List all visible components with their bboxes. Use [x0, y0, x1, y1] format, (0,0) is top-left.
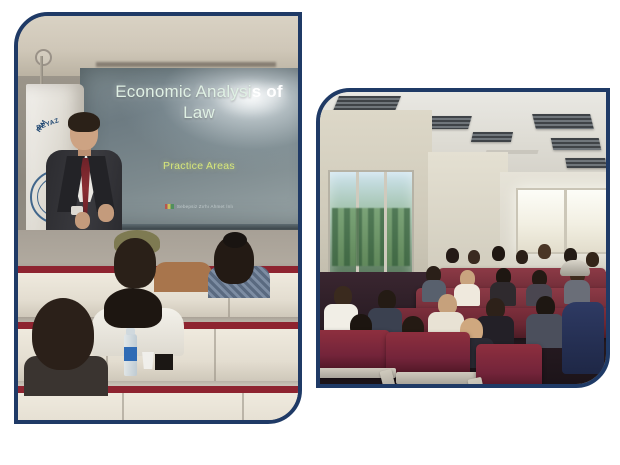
slide-title-line1-highlight: s of [252, 82, 283, 101]
water-bottle-label [124, 347, 137, 361]
slide-footer-logo-icon [165, 204, 174, 209]
speaker-right-hand [98, 204, 114, 222]
audience-member-torso [154, 262, 212, 292]
speaker-presenting-photo[interactable]: Economic Analysis of Law Practice Areas … [14, 12, 302, 424]
audience-member-head [104, 288, 162, 328]
ceiling-vent-icon [565, 158, 606, 168]
left-photo-content: Economic Analysis of Law Practice Areas … [18, 16, 298, 420]
audience-member-torso [526, 314, 564, 348]
audience-member-head [114, 238, 156, 288]
flag-pole-finial-icon [35, 49, 52, 66]
empty-seat [386, 332, 470, 376]
blue-chair [562, 302, 604, 374]
ceiling-vent-icon [551, 138, 602, 150]
ceiling-vent-icon [471, 132, 513, 142]
empty-seat [476, 344, 542, 384]
slide-title: Economic Analysis of Law [80, 82, 298, 123]
audience-member-head [492, 246, 505, 261]
audience-member-head [334, 286, 352, 306]
empty-seat [320, 330, 390, 372]
slide-footer-text: Sebepsiz Zırhı Ahmet İnlı [177, 204, 233, 209]
seal-text-right: BEYAZ [36, 117, 61, 132]
ceiling-vent-icon [333, 96, 401, 111]
audience-member-head [586, 252, 599, 267]
window-foliage [332, 208, 410, 266]
audience-member-torso [564, 280, 590, 304]
audience-member-torso [454, 284, 480, 306]
side-lamp [560, 260, 590, 276]
audience-member-hair-bun [223, 232, 247, 248]
water-bottle [124, 334, 137, 376]
photo-collage: Economic Analysis of Law Practice Areas … [0, 0, 620, 465]
audience-member-head [516, 250, 528, 264]
right-window [516, 188, 606, 254]
right-photo-content: A lecture hall filled with a seated audi… [320, 92, 606, 384]
speaker-hair [68, 112, 100, 132]
audience-member-head [378, 290, 396, 310]
slide-title-line1-prefix: Economic Analysi [115, 82, 251, 101]
slide-title-line2: Law [183, 103, 215, 122]
audience-member-head [446, 248, 459, 263]
black-device [155, 354, 173, 370]
audience-member-head [468, 250, 480, 264]
audience-member-head [538, 244, 551, 259]
speaker-left-hand [75, 212, 90, 229]
ceiling-vent-icon [532, 114, 594, 129]
audience-member-head [32, 298, 94, 370]
audience-lecture-hall-photo[interactable]: A lecture hall filled with a seated audi… [316, 88, 610, 388]
